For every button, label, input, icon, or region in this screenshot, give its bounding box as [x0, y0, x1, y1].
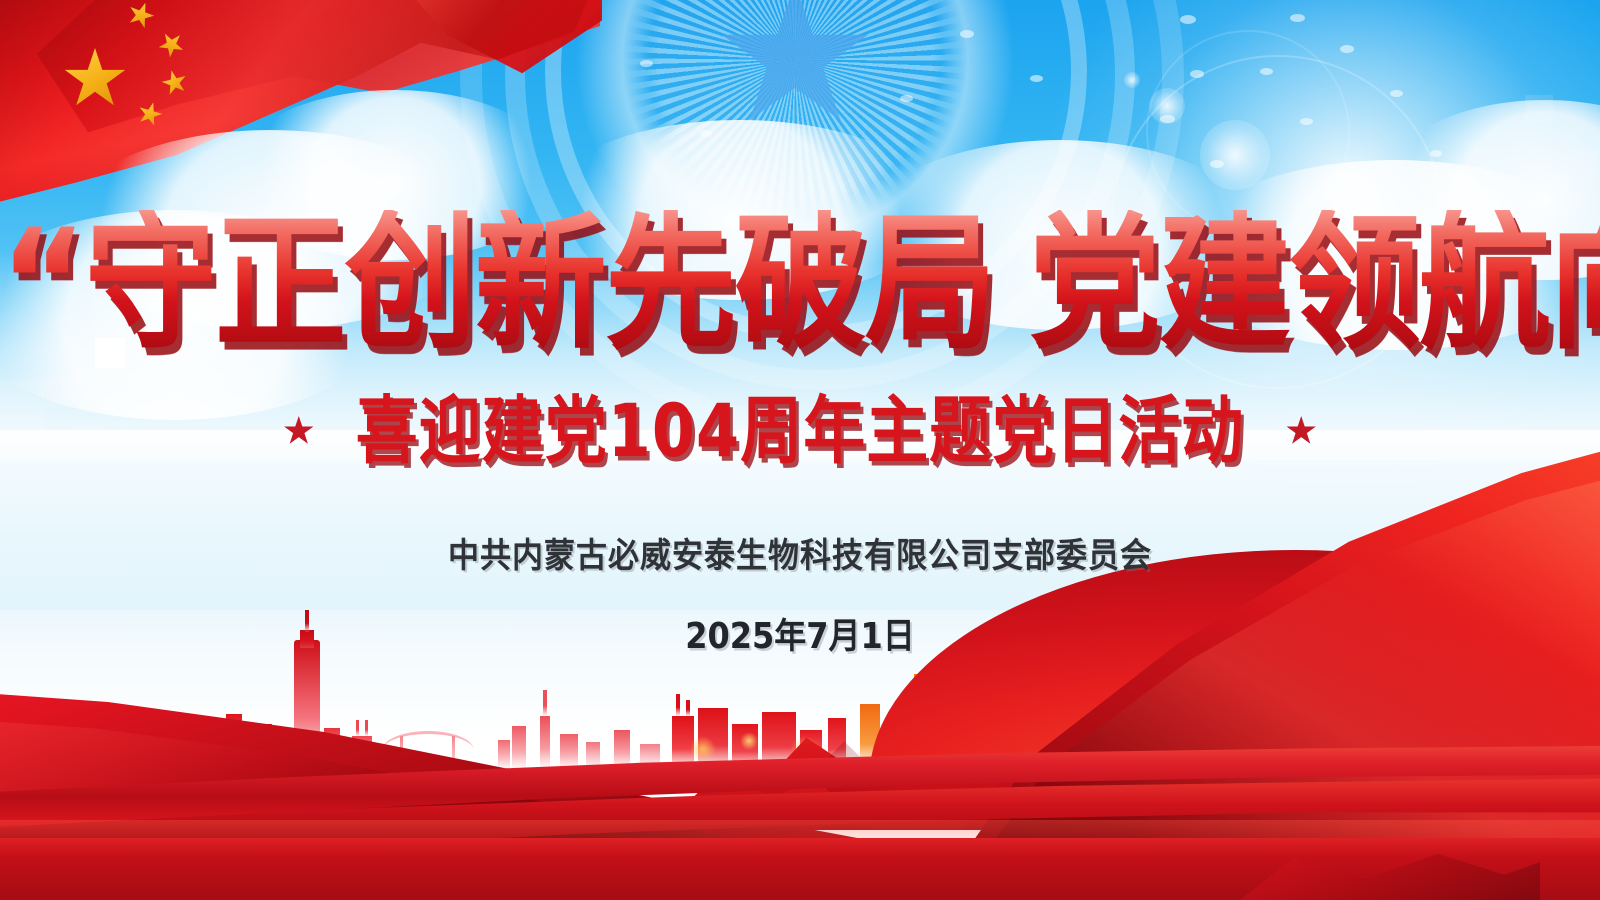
bokeh-light	[690, 736, 716, 762]
skyline-antenna	[365, 720, 368, 736]
skyline-building	[860, 704, 880, 770]
skyline-building	[352, 736, 372, 770]
skyline-pagoda-roof	[1088, 728, 1138, 738]
bokeh-light	[1310, 744, 1326, 760]
flag-star-large	[64, 48, 126, 110]
ribbon-base	[0, 838, 1600, 900]
ribbon-shading	[980, 460, 1600, 860]
skyline-spire	[686, 700, 690, 716]
ribbon-facet-accent	[1240, 830, 1540, 900]
skyline-building	[1076, 708, 1090, 770]
skyline-building	[498, 740, 510, 770]
skyline-temple-roof	[1268, 734, 1340, 746]
lowpoly-mountains-icon	[660, 740, 860, 830]
bokeh-light	[790, 736, 820, 766]
mountain-facet-shading	[990, 700, 1320, 830]
pearl-tower-leg	[1386, 722, 1399, 770]
bokeh-light	[880, 742, 894, 756]
skyline-building	[800, 730, 822, 770]
skyline-building	[762, 712, 796, 770]
sky-speck	[1290, 14, 1305, 22]
skyline-bridge-tower	[1240, 730, 1254, 770]
sky-speck	[960, 30, 974, 38]
skyline-building	[586, 742, 600, 770]
skyline-building	[1004, 694, 1026, 770]
sky-speck	[1180, 15, 1196, 24]
sky-speck	[1340, 45, 1354, 53]
red-silk-hill	[820, 550, 1600, 780]
skyline-bridge-span	[1196, 729, 1254, 736]
skyline-window	[922, 688, 940, 740]
bokeh-light	[740, 732, 758, 750]
skyline-tower	[294, 640, 320, 770]
emblem-star-shape	[720, 0, 870, 132]
skyline-building	[244, 734, 256, 770]
skyline-temple	[1278, 744, 1330, 770]
sky-speck	[1190, 70, 1204, 78]
page-title: “守正创新先破局党建领航向阳生”	[0, 210, 1600, 358]
skyline-building	[540, 716, 550, 770]
subtitle-row: 喜迎建党104周年主题党日活动	[0, 400, 1600, 462]
skyline-building	[324, 728, 340, 770]
skyline-bridge-pylon	[452, 736, 455, 770]
sky-speck	[700, 130, 712, 137]
ribbon-base-highlight	[0, 820, 1600, 856]
skyline-building	[226, 714, 242, 770]
flag-star-small	[124, 0, 157, 32]
skyline-building	[1030, 714, 1046, 770]
bokeh-light	[1380, 698, 1392, 710]
skyline-building	[560, 734, 578, 770]
skyline-building	[900, 740, 914, 770]
sky-speck	[1390, 90, 1403, 97]
sky-speck	[1210, 160, 1224, 168]
headline-part-2: 党建领航向阳生	[1029, 198, 1600, 370]
event-date: 2025年7月1日	[0, 618, 1600, 653]
bokeh-light	[1165, 744, 1185, 764]
flag-star-small	[154, 27, 189, 62]
floating-square	[47, 375, 73, 401]
flag-star-small	[135, 99, 165, 129]
lowpoly-mountains-icon	[720, 690, 1080, 830]
skyline-bridge-deck	[380, 768, 476, 772]
lowpoly-mountains-icon	[960, 670, 1360, 830]
pearl-tower-spire	[1381, 580, 1384, 622]
sky-speck	[900, 95, 913, 102]
flag-tip	[392, 0, 602, 90]
subtitle: 喜迎建党104周年主题党日活动	[356, 394, 1244, 467]
skyline-building	[698, 708, 728, 770]
sky-speck	[1260, 68, 1273, 75]
skyline-building	[732, 724, 758, 770]
poster-canvas: “守正创新先破局党建领航向阳生” 喜迎建党104周年主题党日活动 中共内蒙古必威…	[0, 0, 1600, 900]
skyline-antenna	[356, 720, 359, 736]
skyline-building	[984, 730, 1000, 770]
flag-star-small	[159, 67, 189, 97]
skyline-building	[1140, 742, 1180, 770]
skyline-spire	[543, 690, 547, 716]
skyline-bridge-cable	[382, 731, 474, 770]
skyline-pavilion-top	[1444, 696, 1462, 712]
skyline-building	[952, 710, 974, 770]
skyline-spire	[676, 694, 680, 716]
skyline-roof	[1132, 734, 1188, 744]
skyline-building	[614, 730, 630, 770]
ribbon-fold-band	[0, 750, 1600, 870]
floating-square	[1525, 95, 1553, 123]
skyline-bridge-tower	[1196, 730, 1210, 770]
bokeh-light	[950, 728, 962, 740]
skyline-building	[884, 724, 910, 770]
pearl-tower-leg	[1366, 722, 1379, 770]
lens-flare-dot	[1200, 120, 1270, 190]
bokeh-light	[1250, 734, 1262, 746]
skyline-building	[672, 716, 694, 770]
mountain-facet-shading	[760, 710, 1040, 830]
ribbon-fold-band	[0, 722, 1600, 842]
skyline-pavilion	[1424, 724, 1484, 770]
ribbon-shading	[0, 640, 1040, 900]
skyline-pavilion-roof	[1412, 712, 1498, 726]
bokeh-light	[1010, 738, 1032, 760]
sky-speck	[1160, 115, 1175, 123]
sky-speck	[640, 60, 653, 67]
skyline-building	[914, 674, 948, 770]
headline-open-quote: “	[0, 198, 85, 370]
bokeh-light	[1090, 736, 1104, 750]
red-star-icon-left	[284, 416, 314, 446]
skyline-bridge-pylon	[400, 736, 403, 770]
skyline-pagoda	[1096, 736, 1130, 770]
headline-part-1: 守正创新先破局	[85, 198, 995, 370]
sky-speck	[1030, 75, 1043, 82]
lens-flare-dot	[1124, 72, 1140, 88]
sky-speck	[1300, 118, 1313, 125]
skyline-pagoda-roof	[1096, 720, 1130, 730]
skyline-building	[512, 726, 526, 770]
lens-flare-dot	[1149, 88, 1185, 124]
bokeh-light	[1435, 730, 1453, 748]
skyline-building	[262, 724, 272, 770]
floating-square	[1568, 150, 1598, 180]
skyline-bridge-arch	[1210, 752, 1240, 770]
floating-square	[1465, 148, 1491, 174]
red-star-icon-right	[1286, 416, 1316, 446]
skyline-building	[828, 718, 846, 770]
sky-speck	[1430, 150, 1442, 157]
organization-name: 中共内蒙古必威安泰生物科技有限公司支部委员会	[0, 539, 1600, 573]
skyline-building	[1050, 682, 1072, 770]
pearl-tower-lower-sphere	[1372, 708, 1392, 728]
skyline-building	[640, 744, 660, 770]
